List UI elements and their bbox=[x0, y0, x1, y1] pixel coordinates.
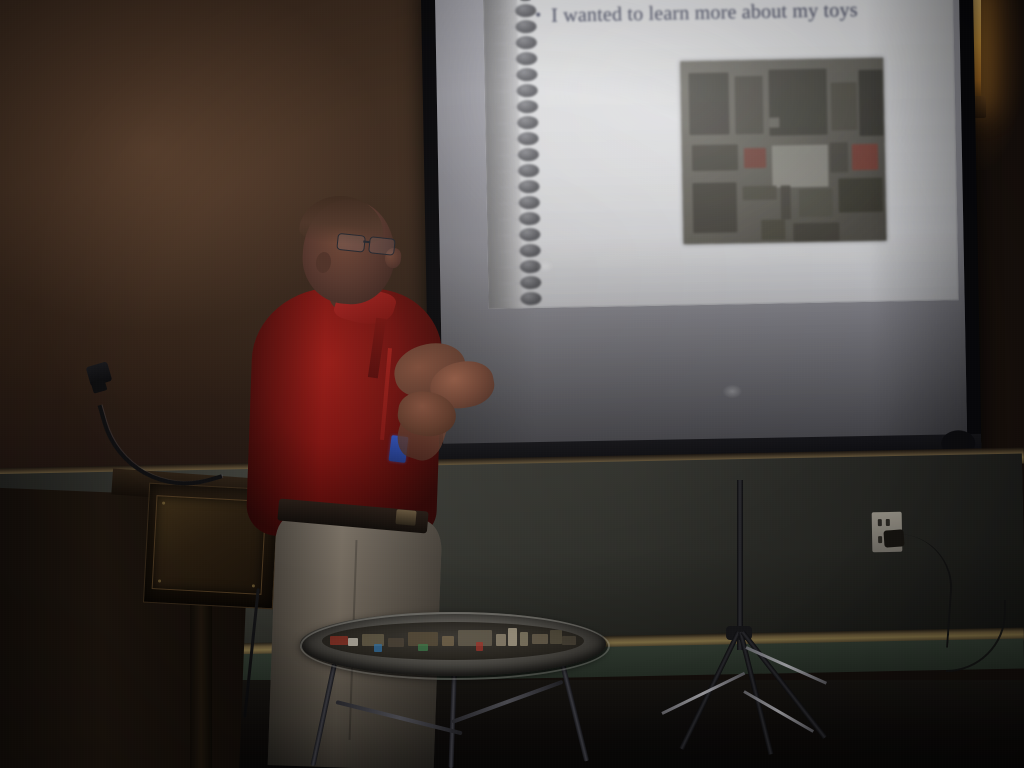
glasses-lens-right bbox=[368, 236, 396, 256]
slide-photo-object bbox=[735, 76, 764, 135]
slide-photo-object bbox=[744, 148, 766, 168]
slide-photo-object bbox=[743, 186, 777, 201]
tray-component bbox=[374, 644, 382, 652]
podium-post bbox=[190, 600, 212, 768]
screen-tripod-mast bbox=[737, 480, 743, 650]
slide-photo-object bbox=[793, 222, 839, 241]
slide-photo-object bbox=[799, 189, 834, 218]
slide-photo-object bbox=[852, 144, 878, 170]
slide-photo-object bbox=[838, 178, 883, 213]
slide-bullet-2: • I wanted to learn more about my toys bbox=[535, 0, 943, 30]
slide-photo-object bbox=[769, 118, 779, 128]
tray-component bbox=[520, 632, 528, 646]
tray-component bbox=[330, 636, 348, 645]
slide-photo-object bbox=[858, 70, 883, 136]
slide-equipment-photo bbox=[680, 58, 886, 245]
tray-component-area bbox=[322, 622, 584, 660]
tray-component bbox=[442, 636, 454, 646]
tray-component bbox=[348, 638, 358, 646]
slide-bullet-list: • I like antenna toys • I have lots of a… bbox=[534, 0, 943, 30]
tray-component bbox=[388, 638, 404, 647]
slide-photo-object bbox=[688, 72, 729, 135]
tray-component bbox=[458, 630, 492, 646]
tray-component bbox=[562, 636, 576, 645]
slide-photo-object bbox=[772, 145, 829, 188]
projection-screen: • I like antenna toys • I have lots of a… bbox=[421, 0, 982, 488]
tray-component bbox=[550, 630, 562, 644]
slide-spiral-rings bbox=[494, 0, 541, 309]
tray-component bbox=[532, 634, 548, 644]
tray-component bbox=[496, 634, 506, 646]
podium-plaque-text bbox=[156, 522, 264, 528]
projected-slide: • I like antenna toys • I have lots of a… bbox=[482, 0, 958, 309]
tray-component bbox=[476, 642, 483, 651]
slide-photo-object bbox=[692, 182, 737, 233]
slide-photo-object bbox=[761, 219, 785, 239]
projection-screen-surface: • I like antenna toys • I have lots of a… bbox=[435, 0, 967, 448]
slide-photo-object bbox=[781, 185, 792, 219]
slide-photo-object bbox=[831, 82, 858, 130]
slide-bullet-2-text: I wanted to learn more about my toys bbox=[551, 0, 858, 29]
slide-photo-object bbox=[692, 144, 738, 171]
screen-hotspot bbox=[722, 384, 742, 398]
tray-component bbox=[508, 628, 517, 646]
presentation-photo-scene: • I like antenna toys • I have lots of a… bbox=[0, 0, 1024, 768]
glasses-lens-left bbox=[336, 233, 366, 253]
tray-component bbox=[418, 644, 428, 651]
belt-buckle bbox=[395, 509, 416, 526]
slide-photo-object bbox=[830, 142, 849, 172]
bullet-marker-icon: • bbox=[535, 4, 541, 29]
